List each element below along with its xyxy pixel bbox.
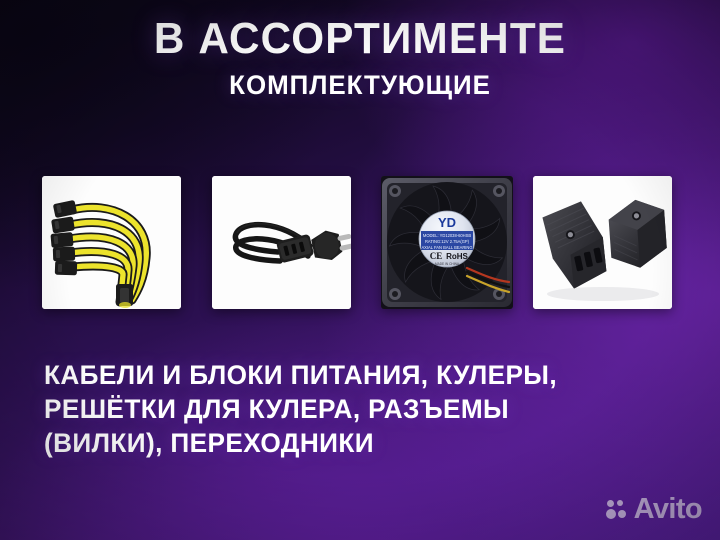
product-card-fan[interactable]: YD MODEL: YD12038-60HSB RATING:12V 2.75A… xyxy=(381,176,513,309)
axial-fan-icon: YD MODEL: YD12038-60HSB RATING:12V 2.75A… xyxy=(381,176,513,309)
heading-block: В АССОРТИМЕНТЕ КОМПЛЕКТУЮЩИЕ xyxy=(0,16,720,99)
product-card-pcie-cables[interactable] xyxy=(42,176,181,309)
page-subtitle: КОМПЛЕКТУЮЩИЕ xyxy=(14,71,705,100)
fan-type-text: AXIAL FAN BALL BEARING xyxy=(421,245,472,250)
product-card-power-cord[interactable] xyxy=(212,176,351,309)
fan-brand-text: YD xyxy=(438,215,456,230)
page-title: В АССОРТИМЕНТЕ xyxy=(14,16,705,62)
fan-origin-text: MADE IN CHINA xyxy=(435,262,460,266)
promo-banner: В АССОРТИМЕНТЕ КОМПЛЕКТУЮЩИЕ xyxy=(0,0,720,540)
ce-mark-icon: CE xyxy=(430,251,443,261)
caption-block: КАБЕЛИ И БЛОКИ ПИТАНИЯ, КУЛЕРЫ, РЕШЁТКИ … xyxy=(44,358,645,460)
rohs-mark-icon: RoHS xyxy=(446,252,468,261)
product-card-row: YD MODEL: YD12038-60HSB RATING:12V 2.75A… xyxy=(42,176,674,309)
caption-line-1: КАБЕЛИ И БЛОКИ ПИТАНИЯ, КУЛЕРЫ, xyxy=(44,358,645,392)
fan-rating-text: RATING:12V 2.75A(GP) xyxy=(425,239,470,244)
product-card-iec-connectors[interactable] xyxy=(533,176,672,309)
avito-brand-text: Avito xyxy=(634,495,702,524)
caption-line-2: РЕШЁТКИ ДЛЯ КУЛЕРА, РАЗЪЕМЫ xyxy=(44,392,645,426)
avito-dots-logo-icon xyxy=(606,499,628,521)
fan-model-text: MODEL: YD12038-60HSB xyxy=(423,233,471,238)
caption-line-3: (ВИЛКИ), ПЕРЕХОДНИКИ xyxy=(44,426,645,460)
yellow-pcie-cable-icon xyxy=(42,176,181,309)
avito-watermark: Avito xyxy=(606,495,702,524)
iec-connector-icon xyxy=(533,176,672,309)
black-power-cord-icon xyxy=(212,176,351,309)
